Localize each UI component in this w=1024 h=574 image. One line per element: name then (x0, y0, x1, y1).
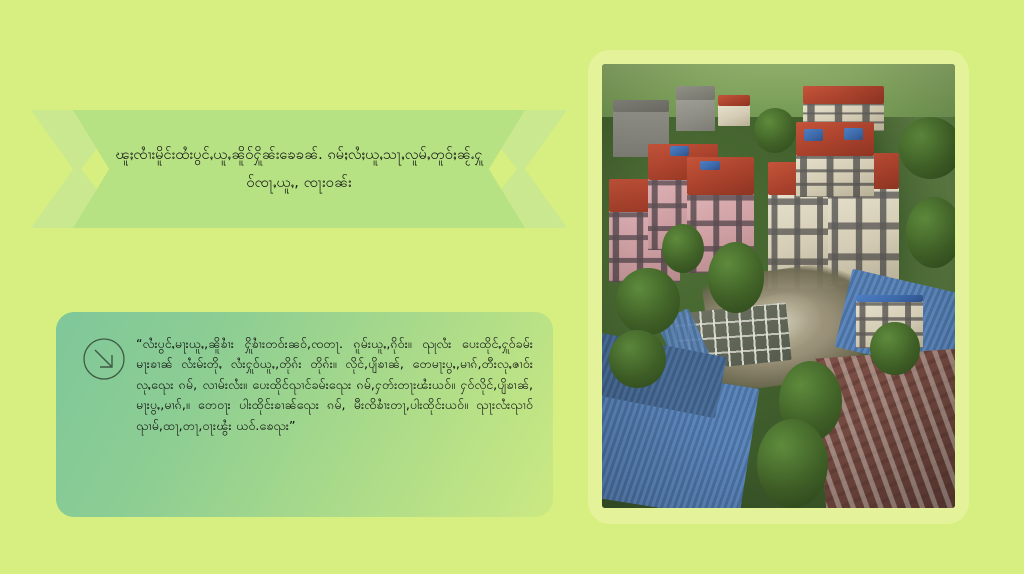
banner-body: ၽူႈၸၢႆးမိူင်းထႆးပွင်ႇယူႇၼိူဝ်ႁိူၼ်းၶေၶၼ်… (73, 110, 525, 228)
arrow-down-right-circle-icon (82, 337, 126, 381)
photo-tree (754, 108, 796, 152)
photo-building-distant-2 (676, 86, 715, 130)
slide-root: ၽူႈၸၢႆးမိူင်းထႆးပွင်ႇယူႇၼိူဝ်ႁိူၼ်းၶေၶၼ်… (0, 0, 1024, 574)
title-banner: ၽူႈၸၢႆးမိူင်းထႆးပွင်ႇယူႇၼိူဝ်ႁိူၼ်းၶေၶၼ်… (31, 110, 567, 228)
photo-tree (662, 224, 704, 273)
photo-tree (757, 419, 828, 508)
aerial-damage-photo (602, 64, 955, 508)
quote-card: “လႆးပွင်ႇမႃးယူႇ,ၼိူၶၢႆး ႁိူၶၢႆးတဝ်းၼဝ်,ၸ… (56, 312, 553, 517)
page-title: ၽူႈၸၢႆးမိူင်းထႆးပွင်ႇယူႇၼိူဝ်ႁိူၼ်းၶေၶၼ်… (109, 141, 489, 198)
photo-tree (616, 268, 680, 335)
photo-tree (609, 330, 665, 388)
photo-building-distant-3 (718, 95, 750, 126)
photo-tree (870, 322, 919, 375)
photo-building-damaged-main-center (796, 122, 874, 197)
photo-frame (588, 50, 969, 524)
photo-tree (708, 242, 764, 313)
quote-body-text: “လႆးပွင်ႇမႃးယူႇ,ၼိူၶၢႆး ႁိူၶၢႆးတဝ်းၼဝ်,ၸ… (134, 328, 533, 436)
